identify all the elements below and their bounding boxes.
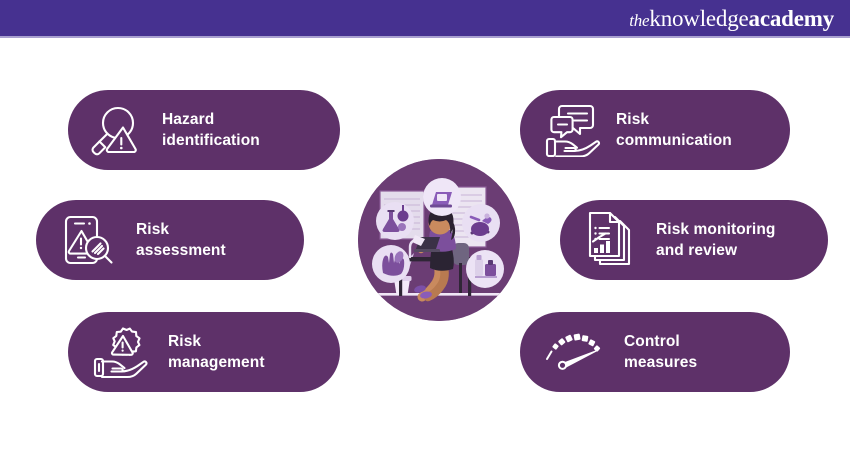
center-illustration [358, 159, 520, 321]
brand-logo: theknowledgeacademy [629, 5, 834, 34]
gauge-speedometer-icon [544, 329, 608, 375]
pill-risk-monitoring[interactable]: Risk monitoring and review [560, 200, 828, 280]
pill-label-control-measures: Control measures [624, 331, 697, 373]
pill-risk-management[interactable]: Risk management [68, 312, 340, 392]
pill-label-risk-assessment: Risk assessment [136, 219, 226, 261]
hand-speech-bubbles-icon [544, 103, 602, 157]
pill-risk-assessment[interactable]: Risk assessment [36, 200, 304, 280]
hand-gear-warning-icon [92, 325, 150, 379]
magnifier-warning-icon [90, 104, 148, 156]
logo-the-text: the [629, 11, 649, 30]
pill-label-hazard-identification: Hazard identification [162, 109, 260, 151]
pill-hazard-identification[interactable]: Hazard identification [68, 90, 340, 170]
logo-knowledge-text: knowledge [649, 6, 748, 31]
header-underline [0, 36, 850, 38]
logo-academy-text: academy [749, 6, 834, 31]
documents-bar-chart-icon [586, 211, 638, 269]
pill-label-risk-management: Risk management [168, 331, 265, 373]
mobile-warning-magnifier-icon [62, 213, 118, 267]
pill-control-measures[interactable]: Control measures [520, 312, 790, 392]
pill-label-risk-communication: Risk communication [616, 109, 732, 151]
pill-risk-communication[interactable]: Risk communication [520, 90, 790, 170]
woman-at-desk-illustration [358, 159, 520, 321]
pill-label-risk-monitoring: Risk monitoring and review [656, 219, 775, 261]
